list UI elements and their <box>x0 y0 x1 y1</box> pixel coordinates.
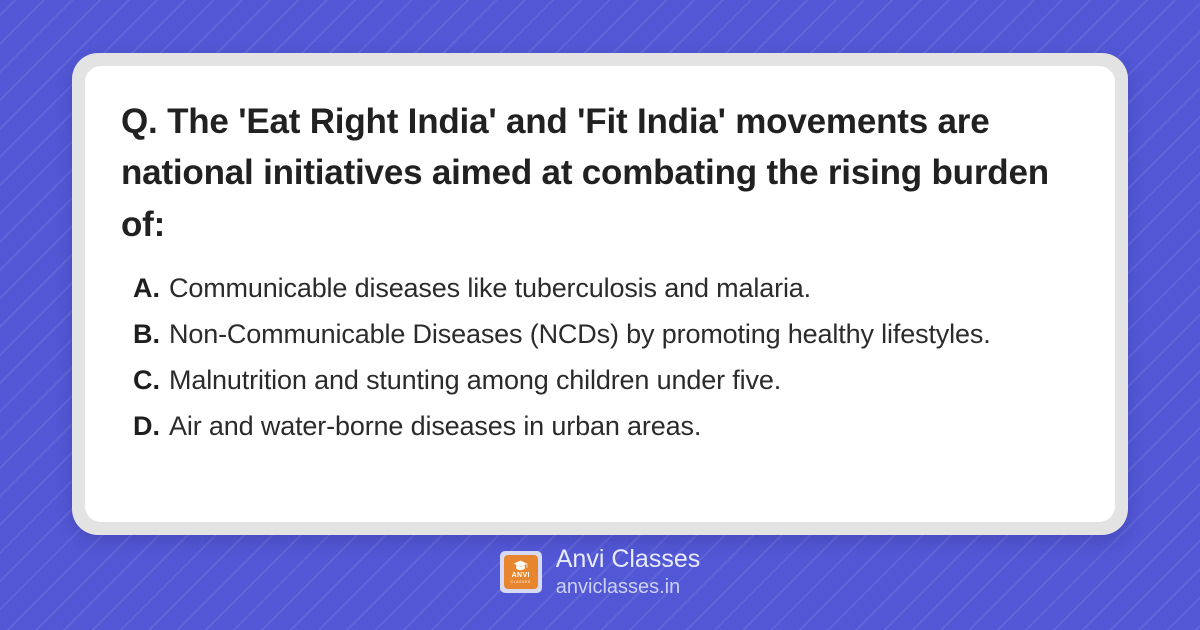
brand-text-block: Anvi Classes anviclasses.in <box>556 545 701 600</box>
option-text: Non-Communicable Diseases (NCDs) by prom… <box>169 318 991 352</box>
option-letter: B. <box>133 319 160 350</box>
option-text: Air and water-borne diseases in urban ar… <box>169 410 701 444</box>
footer-branding: ANVI CLASSES Anvi Classes anviclasses.in <box>0 545 1200 600</box>
brand-logo-name: ANVI <box>512 572 530 579</box>
slide-canvas: Q. The 'Eat Right India' and 'Fit India'… <box>0 0 1200 630</box>
graduation-cap-icon <box>513 560 528 571</box>
option-letter: D. <box>133 411 160 442</box>
brand-logo-subtitle: CLASSES <box>510 581 531 584</box>
option-row[interactable]: A. Communicable diseases like tuberculos… <box>133 272 1079 306</box>
option-row[interactable]: C. Malnutrition and stunting among child… <box>133 364 1079 398</box>
brand-url[interactable]: anviclasses.in <box>556 575 701 600</box>
options-list: A. Communicable diseases like tuberculos… <box>121 272 1079 443</box>
option-text: Communicable diseases like tuberculosis … <box>169 272 811 306</box>
brand-title: Anvi Classes <box>556 545 701 575</box>
brand-logo: ANVI CLASSES <box>500 551 542 593</box>
brand-group: ANVI CLASSES Anvi Classes anviclasses.in <box>500 545 701 600</box>
question-card: Q. The 'Eat Right India' and 'Fit India'… <box>72 53 1128 535</box>
question-text: Q. The 'Eat Right India' and 'Fit India'… <box>121 96 1079 250</box>
option-row[interactable]: B. Non-Communicable Diseases (NCDs) by p… <box>133 318 1079 352</box>
option-row[interactable]: D. Air and water-borne diseases in urban… <box>133 410 1079 444</box>
option-text: Malnutrition and stunting among children… <box>169 364 781 398</box>
question-card-content: Q. The 'Eat Right India' and 'Fit India'… <box>85 66 1115 522</box>
option-letter: A. <box>133 273 160 304</box>
brand-logo-tile: ANVI CLASSES <box>504 555 538 589</box>
option-letter: C. <box>133 365 160 396</box>
